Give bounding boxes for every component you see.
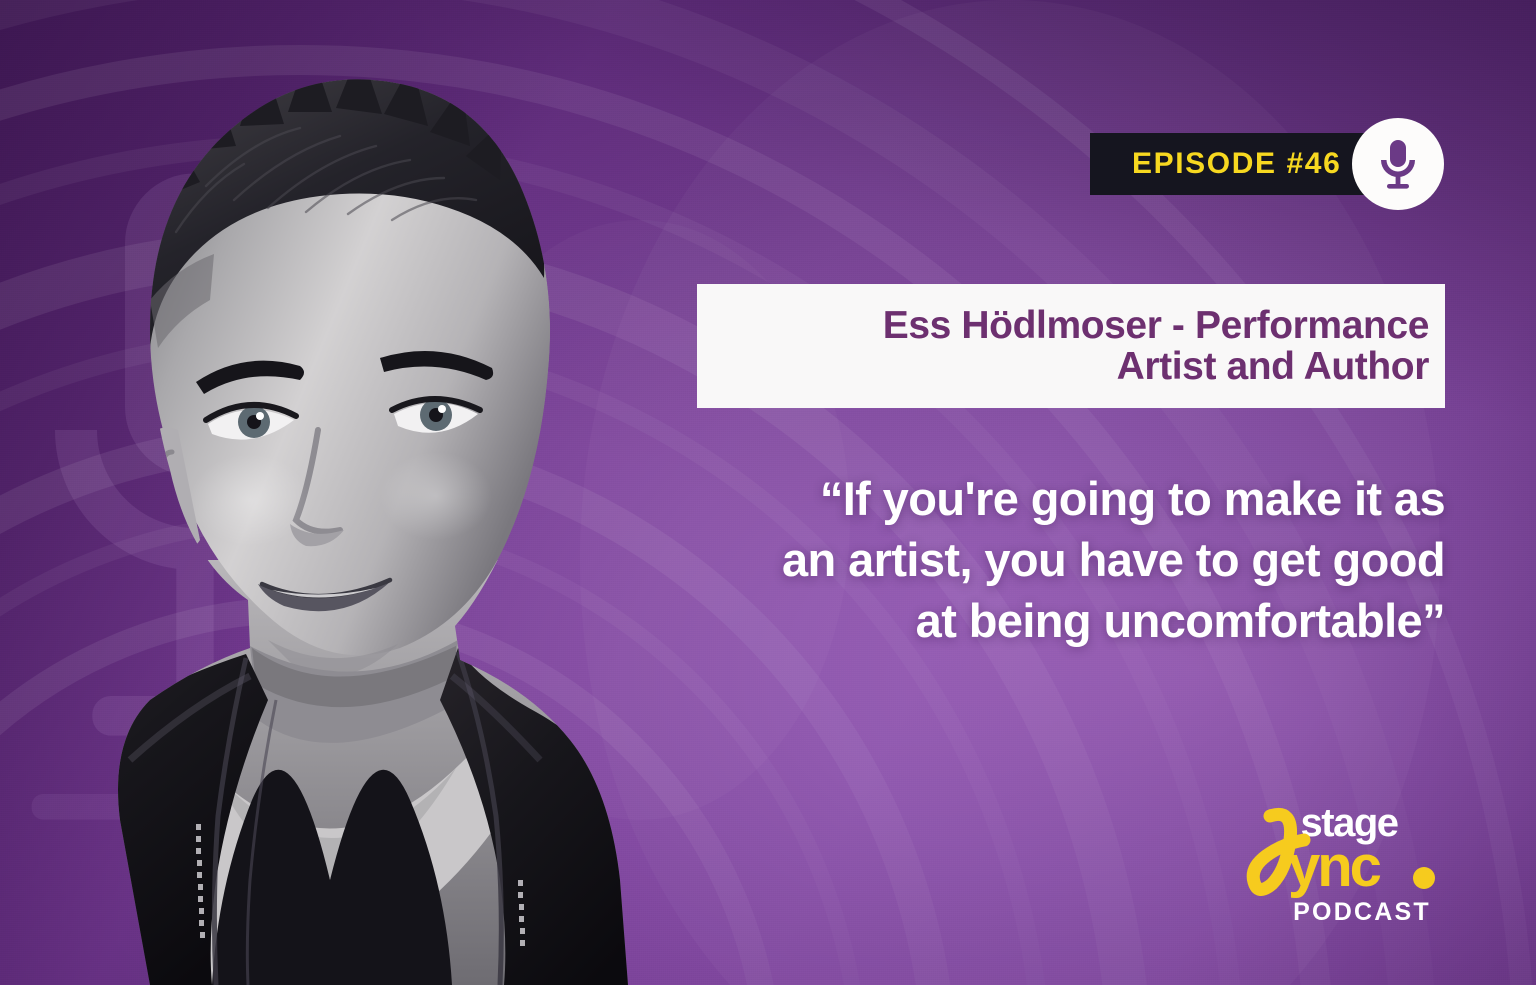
logo-period-dot — [1413, 867, 1435, 889]
logo-word-lync: ync — [1288, 834, 1381, 899]
quote-line-2: an artist, you have to get good — [600, 529, 1445, 590]
guest-title: Ess Hödlmoser - Performance Artist and A… — [883, 305, 1429, 388]
episode-badge: EPISODE #46 — [1090, 133, 1371, 195]
guest-title-line-2: Artist and Author — [883, 346, 1429, 387]
stagelync-podcast-logo: stage ync PODCAST — [1232, 792, 1448, 932]
microphone-icon-badge — [1352, 118, 1444, 210]
microphone-icon — [1375, 138, 1421, 190]
logo-word-podcast: PODCAST — [1293, 898, 1431, 926]
quote-line-1: “If you're going to make it as — [600, 468, 1445, 529]
episode-label: EPISODE #46 — [1132, 147, 1341, 181]
quote-line-3: at being uncomfortable” — [600, 590, 1445, 651]
guest-portrait — [0, 0, 660, 985]
guest-title-line-1: Ess Hödlmoser - Performance — [883, 305, 1429, 346]
podcast-episode-graphic: EPISODE #46 Ess Hödlmoser - Performance … — [0, 0, 1536, 985]
episode-quote: “If you're going to make it as an artist… — [600, 468, 1445, 651]
guest-title-plate: Ess Hödlmoser - Performance Artist and A… — [697, 284, 1445, 408]
